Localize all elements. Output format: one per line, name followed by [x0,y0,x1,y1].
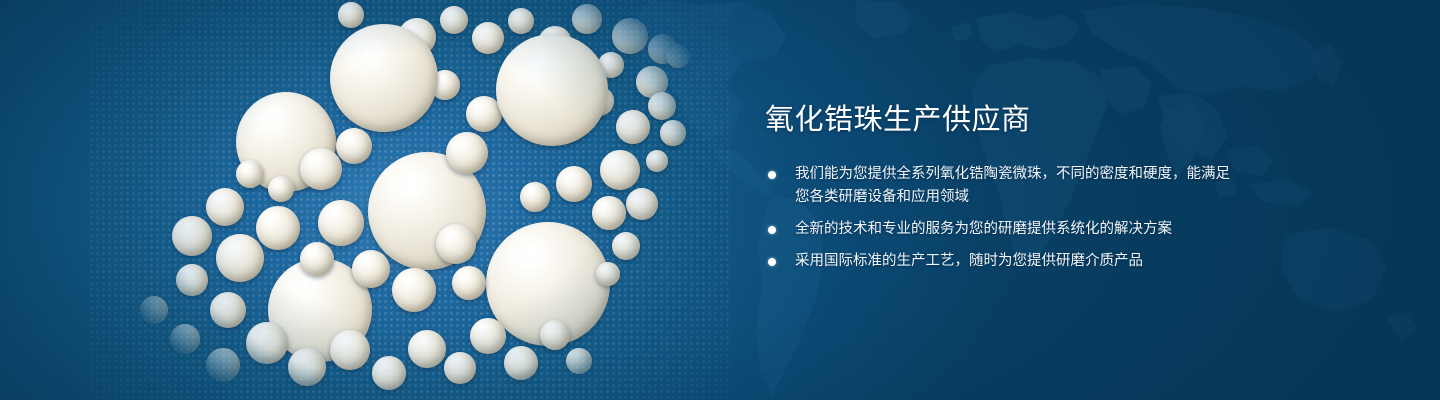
bead [300,148,342,190]
bead [216,234,264,282]
bead [170,324,200,354]
bullet-dot-icon [768,258,776,266]
list-item: 我们能为您提供全系列氧化锆陶瓷微珠，不同的密度和硬度，能满足您各类研磨设备和应用… [765,163,1235,209]
bead [288,348,326,386]
list-item: 全新的技术和专业的服务为您的研磨提供系统化的解决方案 [765,218,1235,241]
bead [446,132,488,174]
bullet-dot-icon [768,226,776,234]
bead [508,8,534,34]
bead [352,250,390,288]
bead [176,264,208,296]
bead [612,18,648,54]
zirconia-beads-photo [0,0,760,400]
list-item-label: 我们能为您提供全系列氧化锆陶瓷微珠，不同的密度和硬度，能满足您各类研磨设备和应用… [795,166,1230,205]
bead [646,150,668,172]
bead [336,128,372,164]
bead [206,188,244,226]
bead [444,352,476,384]
bead [318,200,364,246]
bead [612,232,640,260]
hero-banner: 氧化锆珠生产供应商 我们能为您提供全系列氧化锆陶瓷微珠，不同的密度和硬度，能满足… [0,0,1440,400]
bead [600,150,640,190]
bead [556,166,592,202]
bead [648,92,676,120]
bead [440,6,468,34]
bead [140,296,168,324]
bead [520,182,550,212]
bead [210,292,246,328]
bead [268,176,294,202]
list-item-label: 采用国际标准的生产工艺，随时为您提供研磨介质产品 [795,253,1143,269]
bead-large [330,24,438,132]
bead [452,266,486,300]
bead [172,216,212,256]
bead [392,268,436,312]
bead [666,44,690,68]
bead [372,356,406,390]
bullet-dot-icon [768,171,776,179]
bead [408,330,446,368]
bead [504,346,538,380]
bead [338,2,364,28]
bead [592,196,626,230]
bead [300,242,334,276]
bead [246,322,288,364]
bead [236,160,264,188]
list-item-label: 全新的技术和专业的服务为您的研磨提供系统化的解决方案 [795,221,1172,237]
bead [470,318,506,354]
banner-copy: 氧化锆珠生产供应商 我们能为您提供全系列氧化锆陶瓷微珠，不同的密度和硬度，能满足… [765,103,1235,273]
bead [596,262,620,286]
bead [206,348,240,382]
bead [572,4,602,34]
bead [436,224,476,264]
feature-list: 我们能为您提供全系列氧化锆陶瓷微珠，不同的密度和硬度，能满足您各类研磨设备和应用… [765,163,1235,273]
bead [472,22,504,54]
bead [616,110,650,144]
bead-large [496,34,608,146]
list-item: 采用国际标准的生产工艺，随时为您提供研磨介质产品 [765,250,1235,273]
bead [566,348,592,374]
bead [660,120,686,146]
bead [540,320,570,350]
bead [676,8,704,36]
page-title: 氧化锆珠生产供应商 [765,103,1235,137]
bead [256,206,300,250]
bead [626,188,658,220]
bead [330,330,370,370]
